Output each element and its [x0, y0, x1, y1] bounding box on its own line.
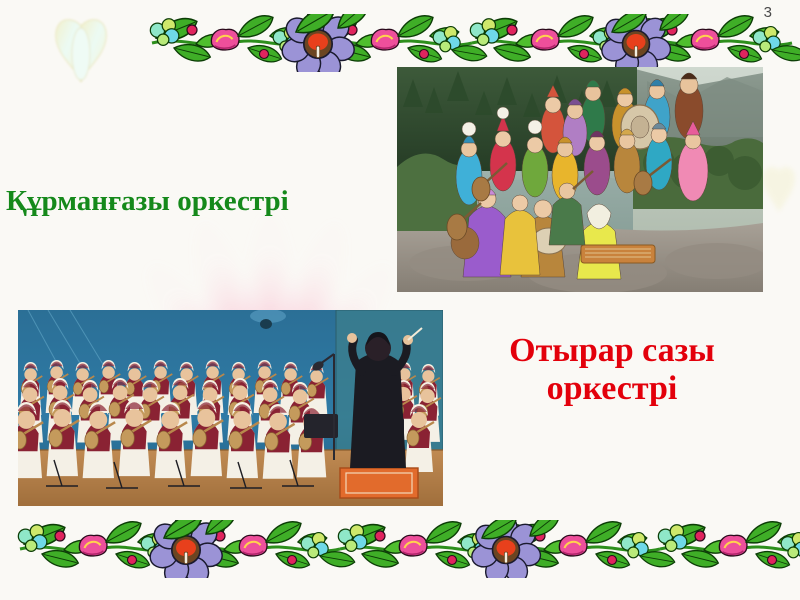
title-right-line2: оркестрі — [452, 370, 772, 408]
floral-border-bottom — [0, 520, 800, 578]
title-otyrar-sazy-orchestra: Отырар сазы оркестрі — [452, 332, 772, 408]
slide-canvas: 3 — [0, 0, 800, 600]
page-number: 3 — [764, 4, 772, 21]
butterfly-icon — [42, 14, 120, 84]
title-right-line1: Отырар сазы — [452, 332, 772, 370]
title-kurmangazy-orchestra: Құрманғазы оркестрі — [6, 185, 406, 217]
photo-orchestra-stage — [18, 310, 443, 506]
photo-folk-ensemble — [397, 67, 763, 292]
floral-border-top — [0, 14, 800, 72]
